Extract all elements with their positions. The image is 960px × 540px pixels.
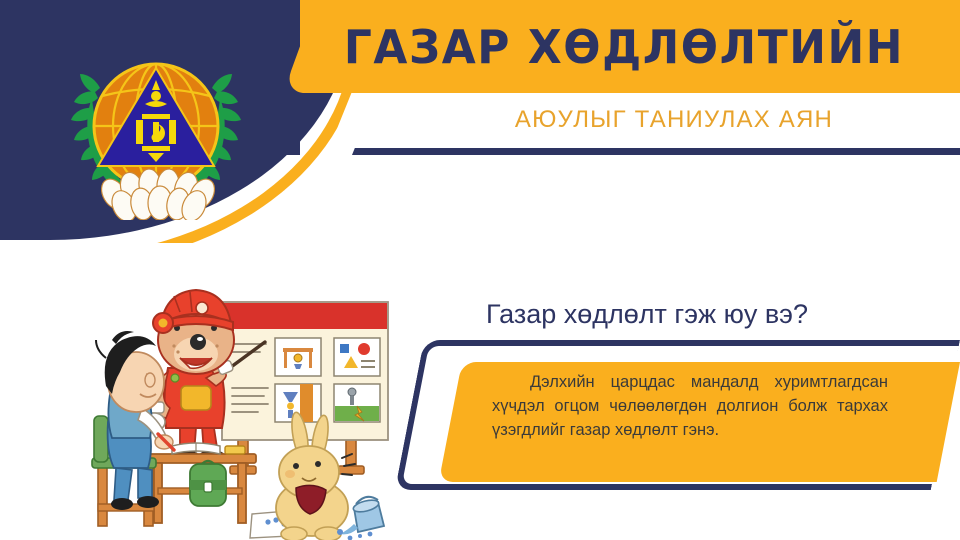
slide-subtitle: АЮУЛЫГ ТАНИУЛАХ АЯН xyxy=(400,100,948,140)
presentation-slide: ГАЗАР ХӨДЛӨЛТИЙН АЮУЛЫГ ТАНИУЛАХ АЯН xyxy=(0,0,960,540)
classroom-illustration xyxy=(62,276,422,540)
answer-body-text: Дэлхийн царцдас мандалд хуримтлагдсан хү… xyxy=(492,370,888,442)
mongolia-emergency-emblem-icon xyxy=(62,38,250,220)
student-desk xyxy=(146,443,256,523)
subtitle-rule xyxy=(364,148,960,155)
slide-title: ГАЗАР ХӨДЛӨЛТИЙН xyxy=(281,14,960,80)
question-heading: Газар хөдлөлт гэж юу вэ? xyxy=(486,296,946,332)
slide-header: ГАЗАР ХӨДЛӨЛТИЙН АЮУЛЫГ ТАНИУЛАХ АЯН xyxy=(0,0,960,243)
